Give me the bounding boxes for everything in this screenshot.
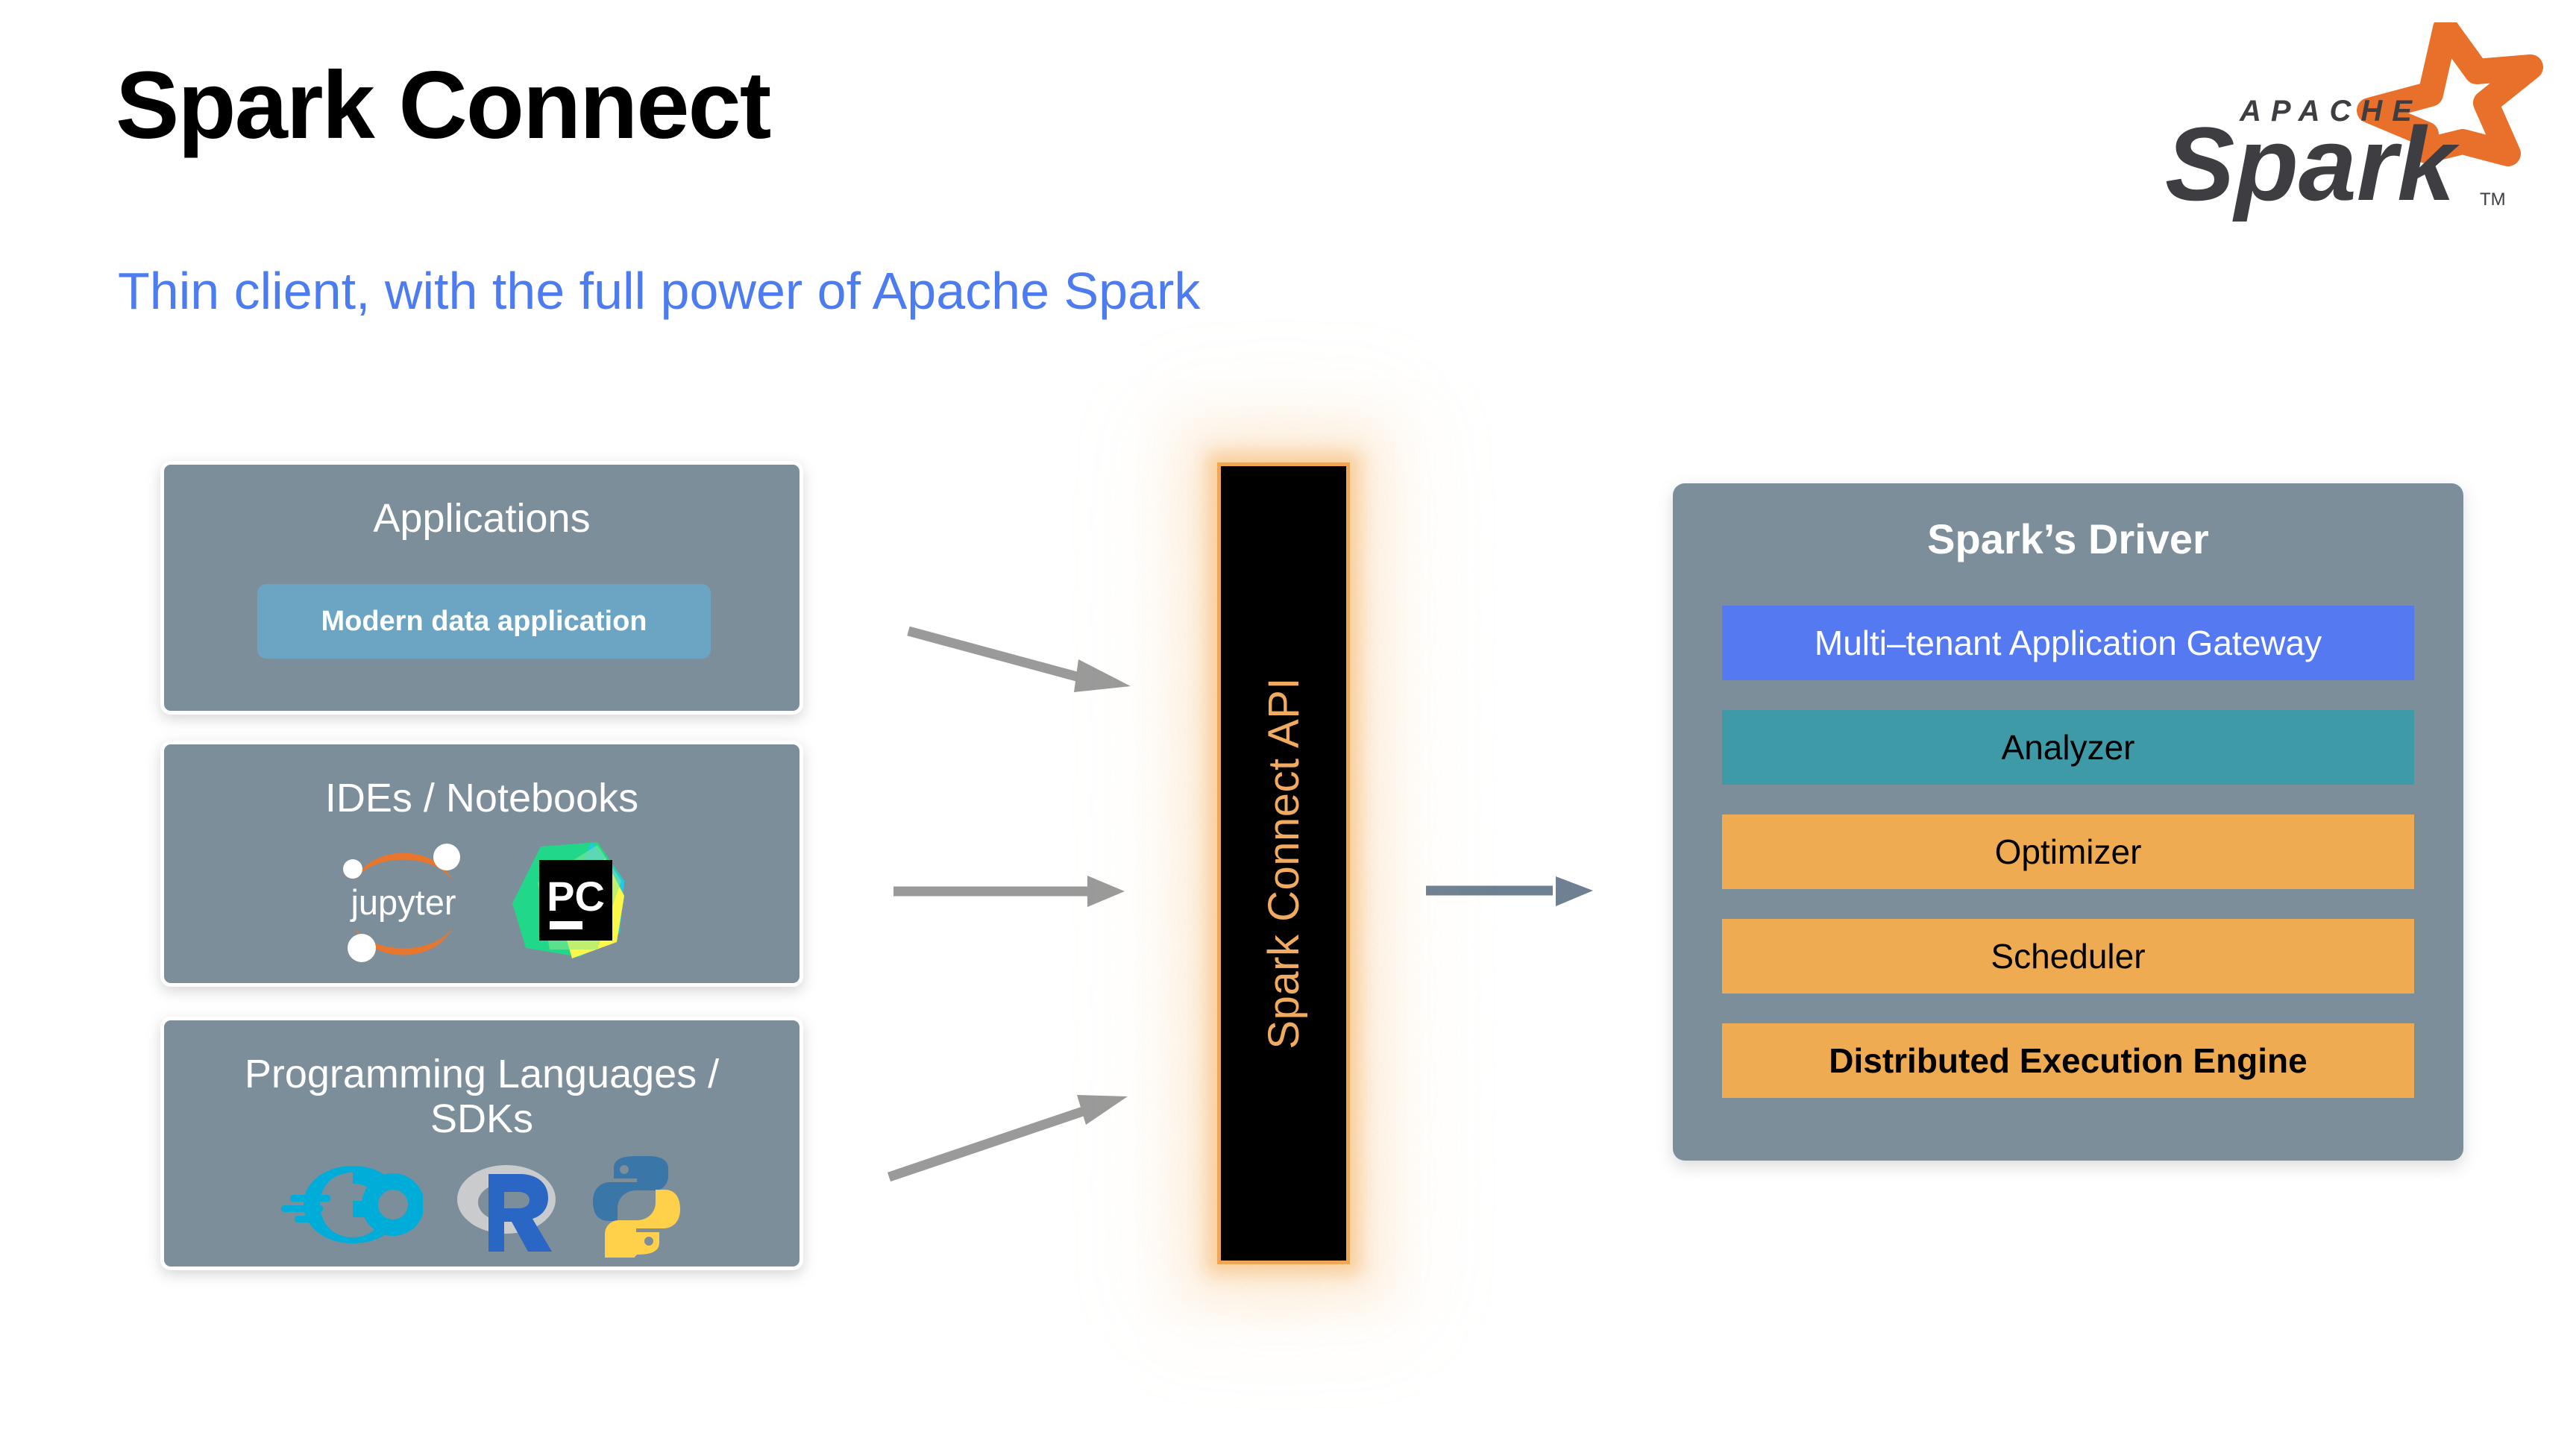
ide-logo-row: jupyter PC [164,838,799,968]
spark-connect-api-label: Spark Connect API [1259,677,1309,1049]
spark-wordmark: Spark [2165,105,2460,222]
card-title-line-1: Programming Languages / [164,1052,799,1096]
r-letter [489,1174,552,1252]
jupyter-wordmark: jupyter [349,882,456,922]
card-title-line-2: SDKs [164,1096,799,1141]
arrow-applications-to-api [908,631,1131,692]
go-logo [281,1162,423,1252]
spark-connect-api-bar[interactable]: Spark Connect API [1217,462,1350,1264]
driver-row-analyzer[interactable]: Analyzer [1722,710,2414,785]
r-logo [454,1153,559,1261]
driver-row-engine[interactable]: Distributed Execution Engine [1722,1023,2414,1098]
client-card-ides-notebooks[interactable]: IDEs / Notebooks jupyter PC [160,741,803,987]
page-title: Spark Connect [116,58,770,154]
jupyter-dot-top [433,844,460,870]
client-card-programming-languages[interactable]: Programming Languages / SDKs [160,1017,803,1270]
spark-driver-panel: Spark’s Driver Multi–tenant Application … [1673,483,2463,1161]
client-card-applications[interactable]: Applications Modern data application [160,461,803,715]
driver-row-optimizer[interactable]: Optimizer [1722,814,2414,889]
modern-data-application-box[interactable]: Modern data application [257,584,711,659]
go-letter-o-inner [378,1190,408,1220]
card-title-ides-notebooks: IDEs / Notebooks [164,776,799,820]
driver-panel-title: Spark’s Driver [1673,515,2463,563]
page-subtitle: Thin client, with the full power of Apac… [118,265,1200,317]
arrow-api-to-driver [1426,876,1593,906]
python-logo [590,1153,683,1261]
pycharm-logo: PC [508,838,627,968]
jupyter-dot-bottom [348,934,376,962]
language-logo-row [164,1151,799,1263]
arrow-ides-to-api [893,876,1125,907]
card-title-programming-languages: Programming Languages / SDKs [164,1052,799,1142]
trademark-mark: TM [2480,189,2506,210]
apache-spark-logo: APACHE Spark TM [2129,22,2547,224]
pycharm-wordmark: PC [547,873,605,920]
arrow-languages-to-api [889,1095,1128,1177]
pycharm-underscore-icon [550,921,582,929]
card-title-applications: Applications [164,496,799,541]
driver-row-scheduler[interactable]: Scheduler [1722,919,2414,994]
jupyter-dot-left [343,859,362,879]
jupyter-logo: jupyter [336,838,471,968]
driver-row-gateway[interactable]: Multi–tenant Application Gateway [1722,606,2414,680]
